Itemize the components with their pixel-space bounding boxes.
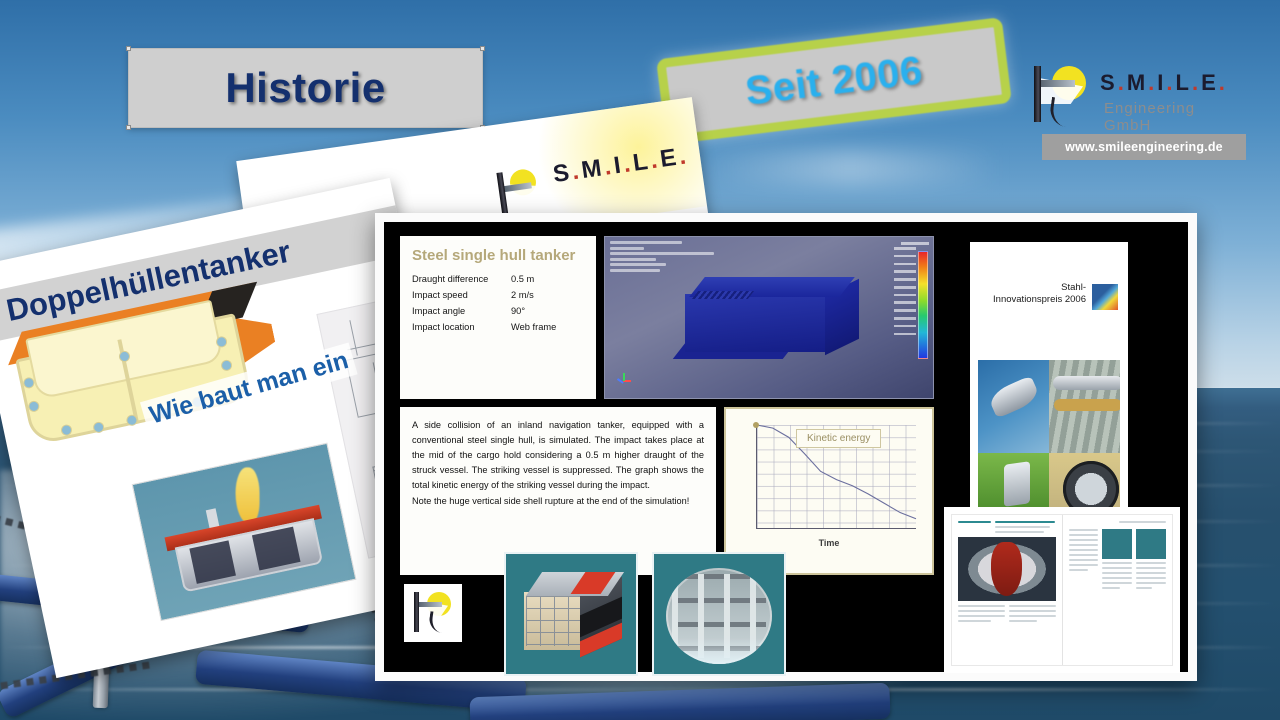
resize-handle[interactable] bbox=[126, 125, 131, 130]
slide-title-historie: Historie bbox=[128, 48, 483, 128]
spec-title: Steel single hull tanker bbox=[412, 247, 584, 265]
poster-inner: Steel single hull tanker Draught differe… bbox=[384, 222, 1188, 672]
award-header: Stahl- Innovationspreis 2006 bbox=[970, 242, 1128, 358]
award-image bbox=[1049, 360, 1120, 453]
presentation-screenshot: Historie Seit 2006 S.M.I.L.E. Engineerin… bbox=[0, 0, 1280, 720]
thumb-deformed-structure[interactable] bbox=[652, 552, 786, 676]
flag-bar-icon bbox=[418, 602, 442, 607]
cloud bbox=[700, 150, 1000, 186]
award-logo-icon bbox=[1092, 284, 1118, 310]
simulation-hud-text bbox=[610, 241, 730, 275]
resize-handle[interactable] bbox=[480, 46, 485, 51]
resize-handle[interactable] bbox=[126, 46, 131, 51]
thumb-cutaway-hull[interactable] bbox=[504, 552, 638, 676]
brand-subtitle: Engineering GmbH bbox=[1104, 100, 1246, 134]
flag-pole-icon bbox=[1034, 66, 1041, 122]
spec-label: Draught difference bbox=[412, 274, 511, 284]
brand-name: S.M.I.L.E. bbox=[1100, 70, 1228, 96]
smile-flag-icon bbox=[411, 590, 455, 634]
spec-row: Impact speed 2 m/s bbox=[412, 290, 584, 300]
spec-row: Draught difference 0.5 m bbox=[412, 274, 584, 284]
description-card: A side collision of an inland navigation… bbox=[400, 407, 716, 575]
kinetic-energy-chart: Kinetic energy Time bbox=[724, 407, 934, 575]
flag-bar-icon bbox=[1039, 80, 1075, 87]
chart-area: Kinetic energy Time bbox=[734, 417, 924, 549]
magazine-spread[interactable] bbox=[944, 507, 1180, 673]
simulation-viewport bbox=[604, 236, 934, 399]
legend-tick-labels bbox=[894, 247, 916, 340]
swoosh-icon bbox=[1048, 97, 1070, 127]
spec-value: 2 m/s bbox=[511, 290, 584, 300]
tanker-model bbox=[160, 483, 332, 596]
spec-value: 0.5 m bbox=[511, 274, 584, 284]
flame bbox=[236, 467, 260, 523]
chart-title: Kinetic energy bbox=[796, 429, 881, 448]
hull-fe-model bbox=[679, 277, 865, 369]
award-title-line1: Stahl- bbox=[993, 282, 1086, 294]
magazine-page-right bbox=[1063, 515, 1173, 665]
chart-xlabel: Time bbox=[734, 538, 924, 548]
spec-value: Web frame bbox=[511, 322, 584, 332]
spec-value: 90° bbox=[511, 306, 584, 316]
smile-engineering-logo: S.M.I.L.E. Engineering GmbH www.smileeng… bbox=[1028, 64, 1246, 168]
smile-flag-icon bbox=[1028, 64, 1090, 126]
magazine-pages bbox=[951, 514, 1173, 666]
magazine-mini-image bbox=[1136, 529, 1166, 559]
thumb-smile-logo[interactable] bbox=[404, 584, 462, 642]
spec-label: Impact speed bbox=[412, 290, 511, 300]
deformed-structure-closeup bbox=[666, 568, 772, 664]
magazine-hero-image bbox=[958, 537, 1056, 601]
award-title: Stahl- Innovationspreis 2006 bbox=[993, 282, 1086, 307]
fringe-color-legend bbox=[918, 251, 928, 359]
spec-row: Impact angle 90° bbox=[412, 306, 584, 316]
poster-panel[interactable]: Steel single hull tanker Draught differe… bbox=[375, 213, 1197, 681]
website-url[interactable]: www.smileengineering.de bbox=[1042, 134, 1246, 160]
spec-label: Impact location bbox=[412, 322, 511, 332]
axis-triad-icon bbox=[615, 372, 631, 388]
award-title-line2: Innovationspreis 2006 bbox=[993, 294, 1086, 306]
spec-row: Impact location Web frame bbox=[412, 322, 584, 332]
page-title: Historie bbox=[225, 64, 385, 112]
legend-title bbox=[901, 242, 929, 245]
spec-card: Steel single hull tanker Draught differe… bbox=[400, 236, 596, 399]
description-paragraph: A side collision of an inland navigation… bbox=[412, 418, 704, 493]
magazine-page-left bbox=[952, 515, 1063, 665]
chart-start-marker bbox=[753, 422, 759, 428]
award-image bbox=[978, 360, 1049, 453]
swoosh-icon bbox=[428, 611, 445, 633]
description-note: Note the huge vertical side shell ruptur… bbox=[412, 494, 704, 509]
spec-label: Impact angle bbox=[412, 306, 511, 316]
magazine-mini-image bbox=[1102, 529, 1132, 559]
tanker-model-photo bbox=[132, 443, 357, 622]
cutaway-hull-model bbox=[520, 572, 626, 656]
flag-pole-icon bbox=[414, 592, 419, 632]
